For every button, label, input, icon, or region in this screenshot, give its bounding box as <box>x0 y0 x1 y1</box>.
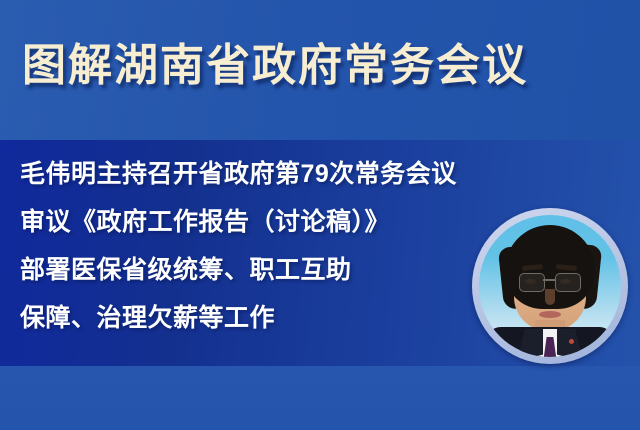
lapel-pin-icon <box>569 339 574 344</box>
summary-line-2: 审议《政府工作报告（讨论稿）》 <box>20 198 480 246</box>
mouth-icon <box>539 311 561 318</box>
glasses-left-lens-icon <box>519 273 545 292</box>
summary-line-4: 保障、治理欠薪等工作 <box>20 294 480 342</box>
portrait-photo <box>479 215 621 357</box>
glasses-bridge-icon <box>543 279 555 281</box>
portrait-avatar <box>472 208 628 364</box>
summary-text-block: 毛伟明主持召开省政府第79次常务会议 审议《政府工作报告（讨论稿）》 部署医保省… <box>20 150 480 342</box>
infographic-poster: 图解湖南省政府常务会议 毛伟明主持召开省政府第79次常务会议 审议《政府工作报告… <box>0 0 640 430</box>
summary-line-3: 部署医保省级统筹、职工互助 <box>20 246 480 294</box>
page-title: 图解湖南省政府常务会议 <box>22 38 582 94</box>
footer-band <box>0 366 640 430</box>
summary-line-1: 毛伟明主持召开省政府第79次常务会议 <box>20 150 480 198</box>
nose-icon <box>545 289 555 305</box>
glasses-right-lens-icon <box>555 273 581 292</box>
